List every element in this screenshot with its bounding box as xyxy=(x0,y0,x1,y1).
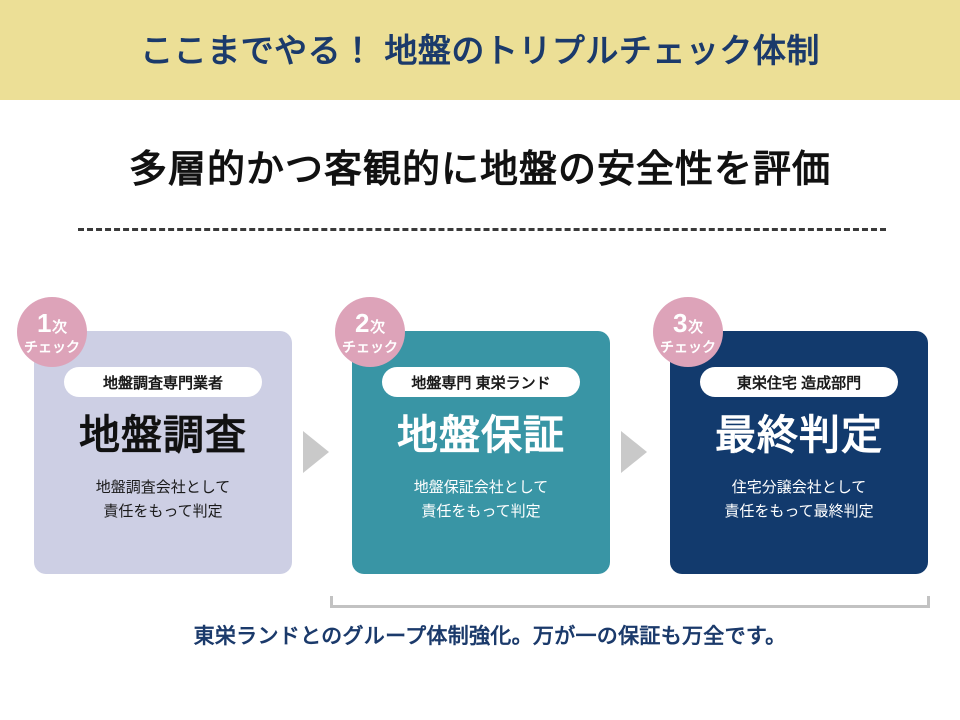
step-2-badge-check-label: チェック xyxy=(342,340,398,354)
step-2-title: 地盤保証 xyxy=(397,415,565,456)
subtitle-text: 多層的かつ客観的に地盤の安全性を評価 xyxy=(0,150,960,192)
arrow-right-icon xyxy=(303,431,329,473)
step-1-badge-number: 1 xyxy=(37,310,51,336)
subtitle-section: 多層的かつ客観的に地盤の安全性を評価 xyxy=(0,150,960,192)
step-3-badge: 3 次 チェック xyxy=(653,297,723,367)
footer-note: 東栄ランドとのグループ体制強化。万が一の保証も万全です。 xyxy=(0,620,960,650)
dashed-divider xyxy=(78,228,886,231)
group-bracket xyxy=(330,596,930,608)
step-3-desc-line-1: 住宅分譲会社として xyxy=(724,476,873,500)
step-3-badge-unit: 次 xyxy=(688,320,703,335)
step-3-description: 住宅分譲会社として 責任をもって最終判定 xyxy=(724,476,873,524)
step-2-badge: 2 次 チェック xyxy=(335,297,405,367)
steps-container: 地盤調査専門業者 地盤調査 地盤調査会社として 責任をもって判定 地盤専門 東栄… xyxy=(0,331,960,575)
step-3-badge-top: 3 次 xyxy=(673,310,703,336)
step-2-desc-line-2: 責任をもって判定 xyxy=(414,500,549,524)
step-1-badge-check-label: チェック xyxy=(24,340,80,354)
step-card-3: 東栄住宅 造成部門 最終判定 住宅分譲会社として 責任をもって最終判定 xyxy=(670,331,928,574)
step-2-badge-top: 2 次 xyxy=(355,310,385,336)
step-1-description: 地盤調査会社として 責任をもって判定 xyxy=(96,476,231,524)
step-3-pill: 東栄住宅 造成部門 xyxy=(700,367,898,397)
header-banner: ここまでやる！ 地盤のトリプルチェック体制 xyxy=(0,0,960,100)
step-2-description: 地盤保証会社として 責任をもって判定 xyxy=(414,476,549,524)
step-2-pill: 地盤専門 東栄ランド xyxy=(382,367,580,397)
step-3-title: 最終判定 xyxy=(715,415,883,456)
step-3-badge-number: 3 xyxy=(673,310,687,336)
step-1-pill: 地盤調査専門業者 xyxy=(64,367,262,397)
step-1-title: 地盤調査 xyxy=(79,415,247,456)
step-3-badge-check-label: チェック xyxy=(660,340,716,354)
step-1-desc-line-2: 責任をもって判定 xyxy=(96,500,231,524)
step-2-badge-number: 2 xyxy=(355,310,369,336)
page-title: ここまでやる！ 地盤のトリプルチェック体制 xyxy=(140,34,820,67)
step-2-desc-line-1: 地盤保証会社として xyxy=(414,476,549,500)
step-1-badge: 1 次 チェック xyxy=(17,297,87,367)
arrow-right-icon xyxy=(621,431,647,473)
step-card-1: 地盤調査専門業者 地盤調査 地盤調査会社として 責任をもって判定 xyxy=(34,331,292,574)
step-3-desc-line-2: 責任をもって最終判定 xyxy=(724,500,873,524)
step-1-desc-line-1: 地盤調査会社として xyxy=(96,476,231,500)
step-2-badge-unit: 次 xyxy=(370,320,385,335)
step-1-badge-top: 1 次 xyxy=(37,310,67,336)
step-1-badge-unit: 次 xyxy=(52,320,67,335)
step-card-2: 地盤専門 東栄ランド 地盤保証 地盤保証会社として 責任をもって判定 xyxy=(352,331,610,574)
